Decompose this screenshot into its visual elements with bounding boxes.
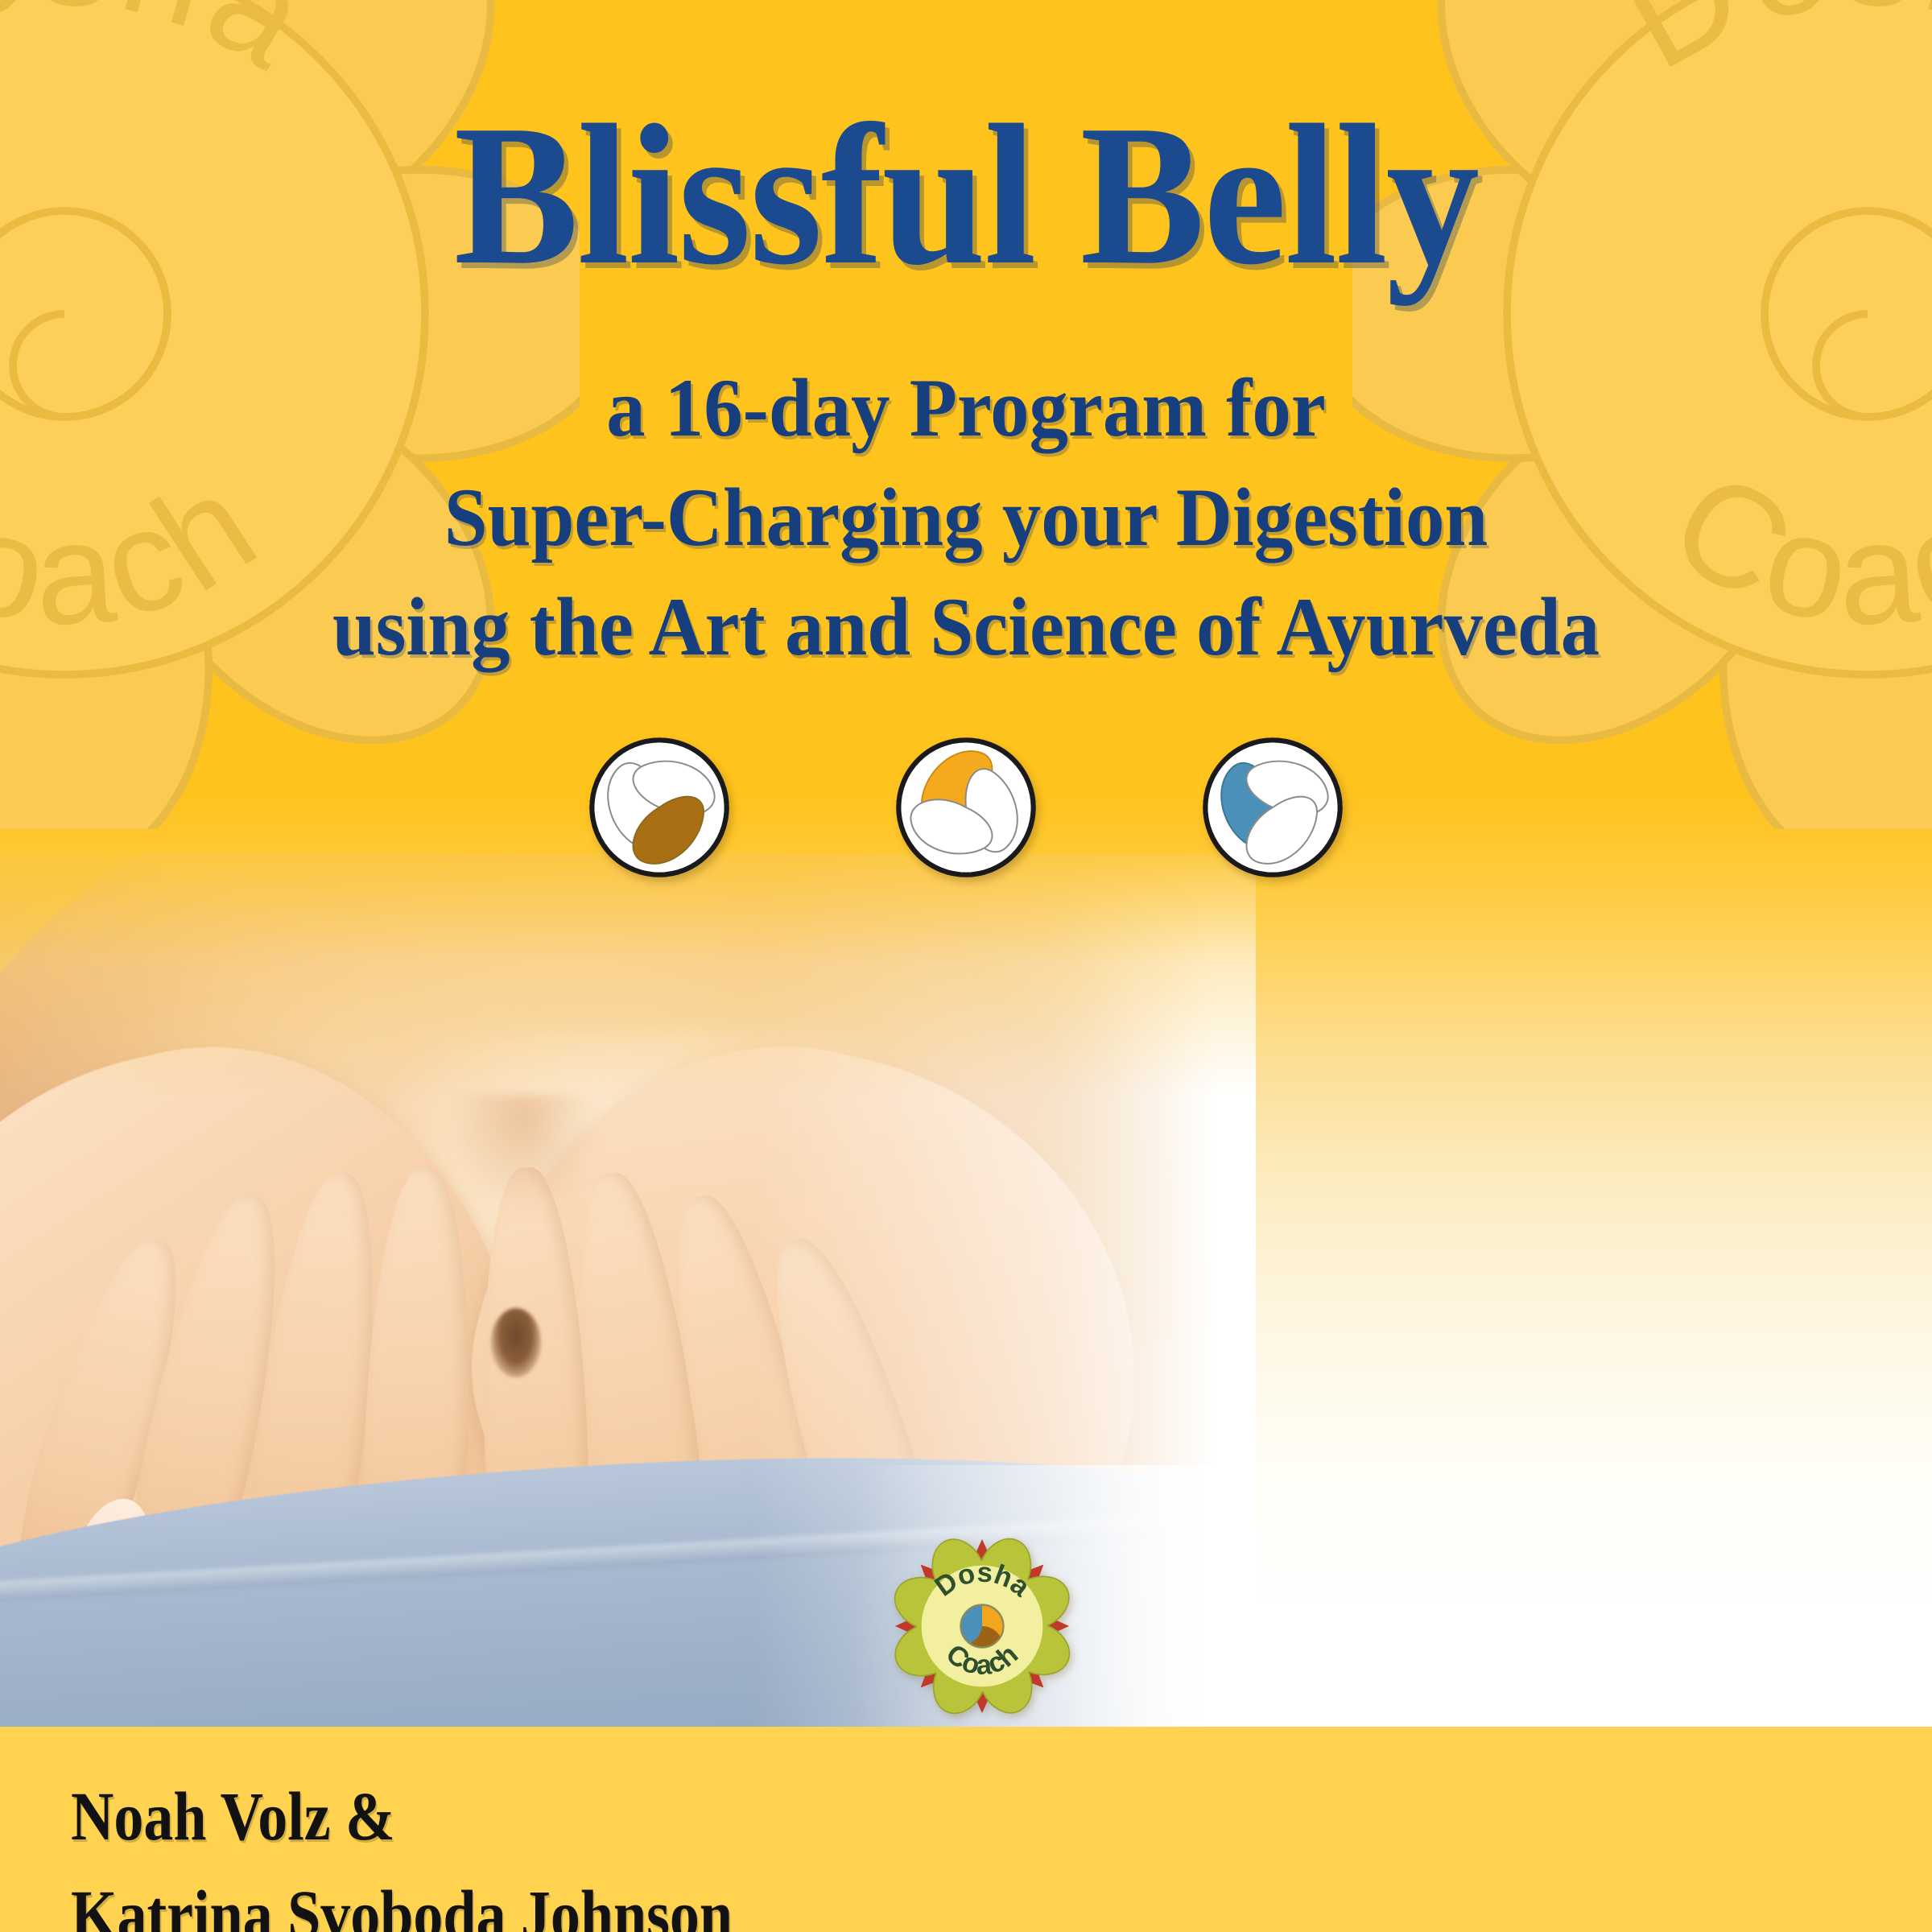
subtitle-line-3: using the Art and Science of Ayurveda bbox=[58, 573, 1874, 683]
vata-dosha-symbol bbox=[588, 736, 731, 879]
navel bbox=[491, 1308, 541, 1377]
subtitle-line-1: a 16-day Program for bbox=[58, 354, 1874, 464]
pitta-dosha-symbol bbox=[894, 736, 1038, 879]
book-cover: Dosha Coach Dosha Coach bbox=[0, 0, 1932, 1932]
subtitle-line-2: Super-Charging your Digestion bbox=[58, 464, 1874, 573]
dosha-symbol-row bbox=[0, 731, 1932, 884]
dosha-coach-logo: Dosha Coach bbox=[890, 1534, 1075, 1719]
heart-gesture-notch bbox=[451, 1095, 596, 1216]
page-title: Blissful Belly bbox=[68, 95, 1864, 296]
author-line-2: Katrina Svoboda Johnson bbox=[71, 1865, 1248, 1932]
author-line-1: Noah Volz & bbox=[71, 1767, 1248, 1865]
authors: Noah Volz & Katrina Svoboda Johnson bbox=[71, 1767, 1248, 1932]
subtitle: a 16-day Program for Super-Charging your… bbox=[58, 354, 1874, 683]
kapha-dosha-symbol bbox=[1201, 736, 1344, 879]
